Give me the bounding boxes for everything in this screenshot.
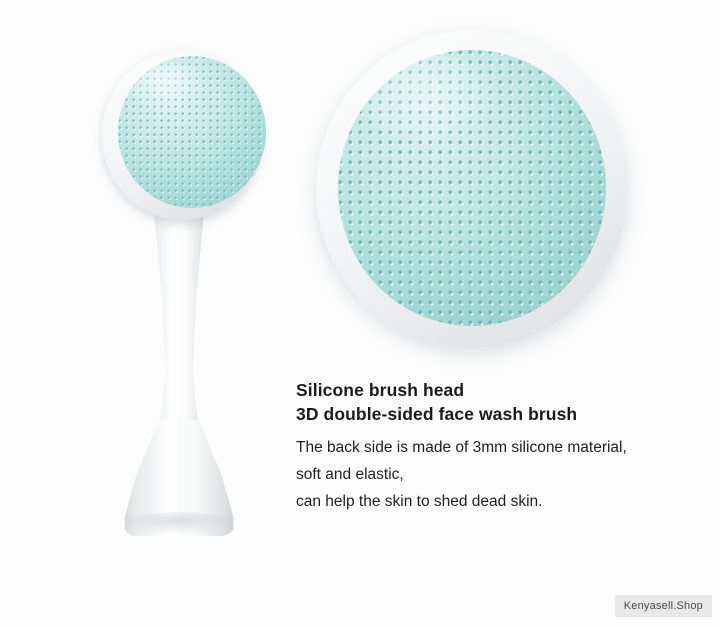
copy-body-line-2: soft and elastic, <box>296 461 700 488</box>
product-copy-block: Silicone brush head 3D double-sided face… <box>296 378 700 515</box>
watermark-badge: Kenyasell.Shop <box>615 595 712 617</box>
silicone-bristles-left <box>118 56 266 208</box>
copy-body: The back side is made of 3mm silicone ma… <box>296 434 700 515</box>
brush-handle-neck <box>148 200 210 450</box>
copy-headline: Silicone brush head 3D double-sided face… <box>296 378 700 426</box>
silicone-bristles-right <box>338 50 606 326</box>
brush-head-pad-left <box>118 56 266 208</box>
product-right-pad <box>316 30 628 348</box>
copy-headline-line-2: 3D double-sided face wash brush <box>296 402 700 426</box>
brush-handle-shadow <box>122 512 236 534</box>
copy-body-line-1: The back side is made of 3mm silicone ma… <box>296 434 700 461</box>
brush-head-rim-left <box>102 50 262 220</box>
brush-handle <box>114 200 244 540</box>
product-image-canvas: Silicone brush head 3D double-sided face… <box>0 0 720 627</box>
brush-head-pad-right <box>338 50 606 326</box>
copy-body-line-3: can help the skin to shed dead skin. <box>296 488 700 515</box>
copy-headline-line-1: Silicone brush head <box>296 378 700 402</box>
product-left-brush <box>92 50 272 540</box>
